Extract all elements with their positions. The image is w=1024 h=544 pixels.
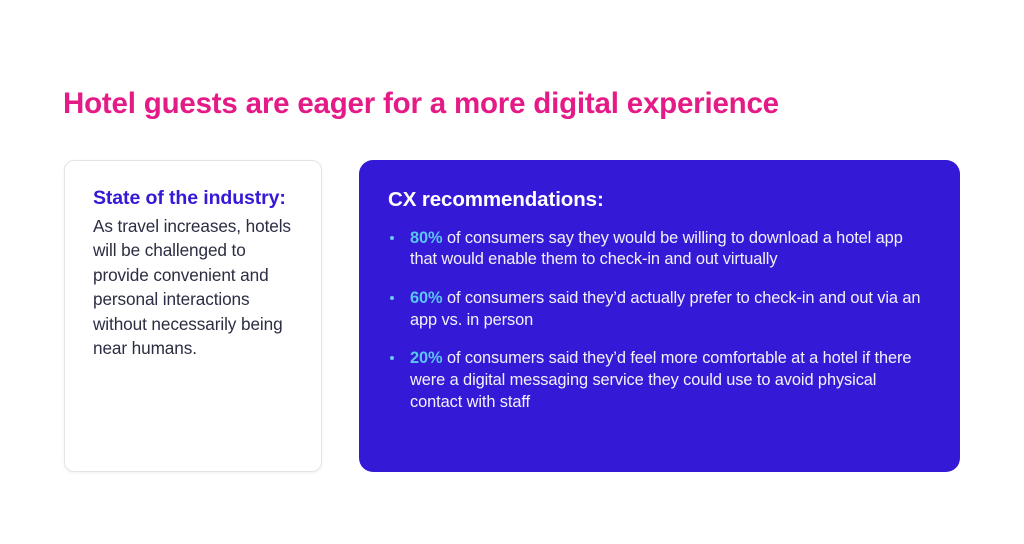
bullet-dot-icon: [390, 296, 394, 300]
slide-canvas: Hotel guests are eager for a more digita…: [0, 0, 1024, 544]
list-item: 80% of consumers say they would be willi…: [388, 228, 930, 271]
stat-description: of consumers said they’d feel more comfo…: [410, 349, 911, 410]
page-title: Hotel guests are eager for a more digita…: [63, 86, 963, 121]
cx-recommendations-list: 80% of consumers say they would be willi…: [388, 228, 930, 414]
state-of-industry-heading: State of the industry:: [93, 187, 295, 210]
state-of-industry-card: State of the industry: As travel increas…: [64, 160, 322, 472]
state-of-industry-body: As travel increases, hotels will be chal…: [93, 214, 295, 361]
cx-recommendations-heading: CX recommendations:: [388, 188, 930, 213]
stat-value: 60%: [410, 289, 443, 307]
stat-description: of consumers say they would be willing t…: [410, 229, 903, 269]
bullet-dot-icon: [390, 356, 394, 360]
stat-description: of consumers said they’d actually prefer…: [410, 289, 920, 329]
bullet-dot-icon: [390, 236, 394, 240]
stat-value: 80%: [410, 229, 443, 247]
stat-value: 20%: [410, 349, 443, 367]
cx-recommendations-card: CX recommendations: 80% of consumers say…: [359, 160, 960, 472]
list-item: 20% of consumers said they’d feel more c…: [388, 348, 930, 413]
list-item: 60% of consumers said they’d actually pr…: [388, 288, 930, 331]
